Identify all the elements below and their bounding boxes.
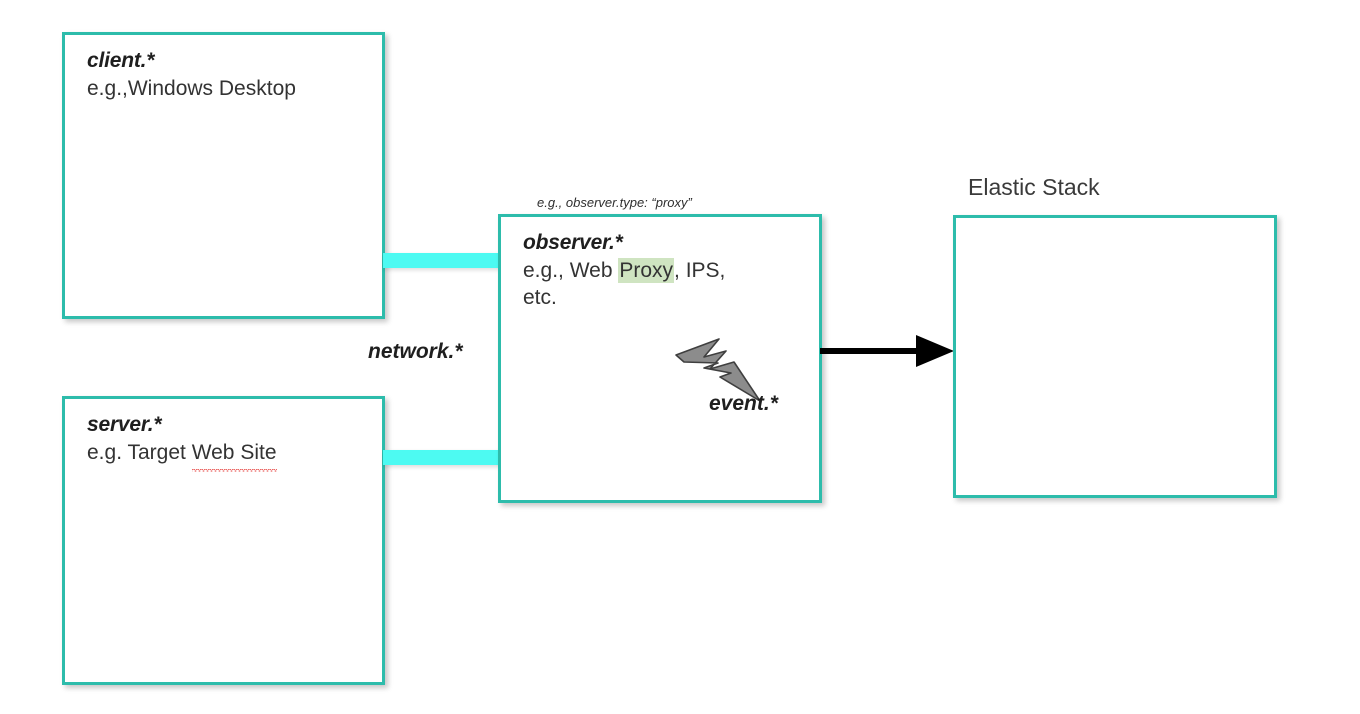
client-network-link	[383, 253, 501, 268]
client-node[interactable]: client.* e.g.,Windows Desktop	[62, 32, 385, 319]
client-node-subtitle: e.g.,Windows Desktop	[87, 76, 374, 102]
event-label: event.*	[709, 392, 778, 416]
observer-subtitle-line2: etc.	[523, 285, 811, 311]
observer-type-caption: e.g., observer.type: “proxy”	[537, 195, 692, 210]
diagram-canvas: client.* e.g.,Windows Desktop server.* e…	[0, 0, 1360, 714]
server-network-link	[383, 450, 501, 465]
server-node-subtitle: e.g. Target Web Site	[87, 440, 374, 466]
observer-subtitle-suffix: , IPS,	[674, 259, 725, 282]
observer-node[interactable]: observer.* e.g., Web Proxy, IPS, etc.	[498, 214, 822, 503]
arrow-right-icon	[820, 333, 956, 369]
network-label: network.*	[368, 340, 463, 364]
observer-node-title: observer.*	[523, 230, 811, 256]
observer-subtitle-prefix: e.g., Web	[523, 259, 618, 282]
client-node-title: client.*	[87, 48, 374, 74]
server-subtitle-misspelled: Web Site	[192, 440, 277, 466]
observer-node-text: observer.* e.g., Web Proxy, IPS, etc.	[523, 230, 811, 311]
observer-node-subtitle: e.g., Web Proxy, IPS,	[523, 258, 811, 284]
observer-subtitle-highlight: Proxy	[618, 258, 674, 283]
elastic-stack-node[interactable]	[953, 215, 1277, 498]
server-node[interactable]: server.* e.g. Target Web Site	[62, 396, 385, 685]
server-node-text: server.* e.g. Target Web Site	[87, 412, 374, 467]
server-subtitle-prefix: e.g. Target	[87, 441, 192, 464]
elastic-stack-title: Elastic Stack	[968, 174, 1100, 201]
client-node-text: client.* e.g.,Windows Desktop	[87, 48, 374, 103]
server-node-title: server.*	[87, 412, 374, 438]
